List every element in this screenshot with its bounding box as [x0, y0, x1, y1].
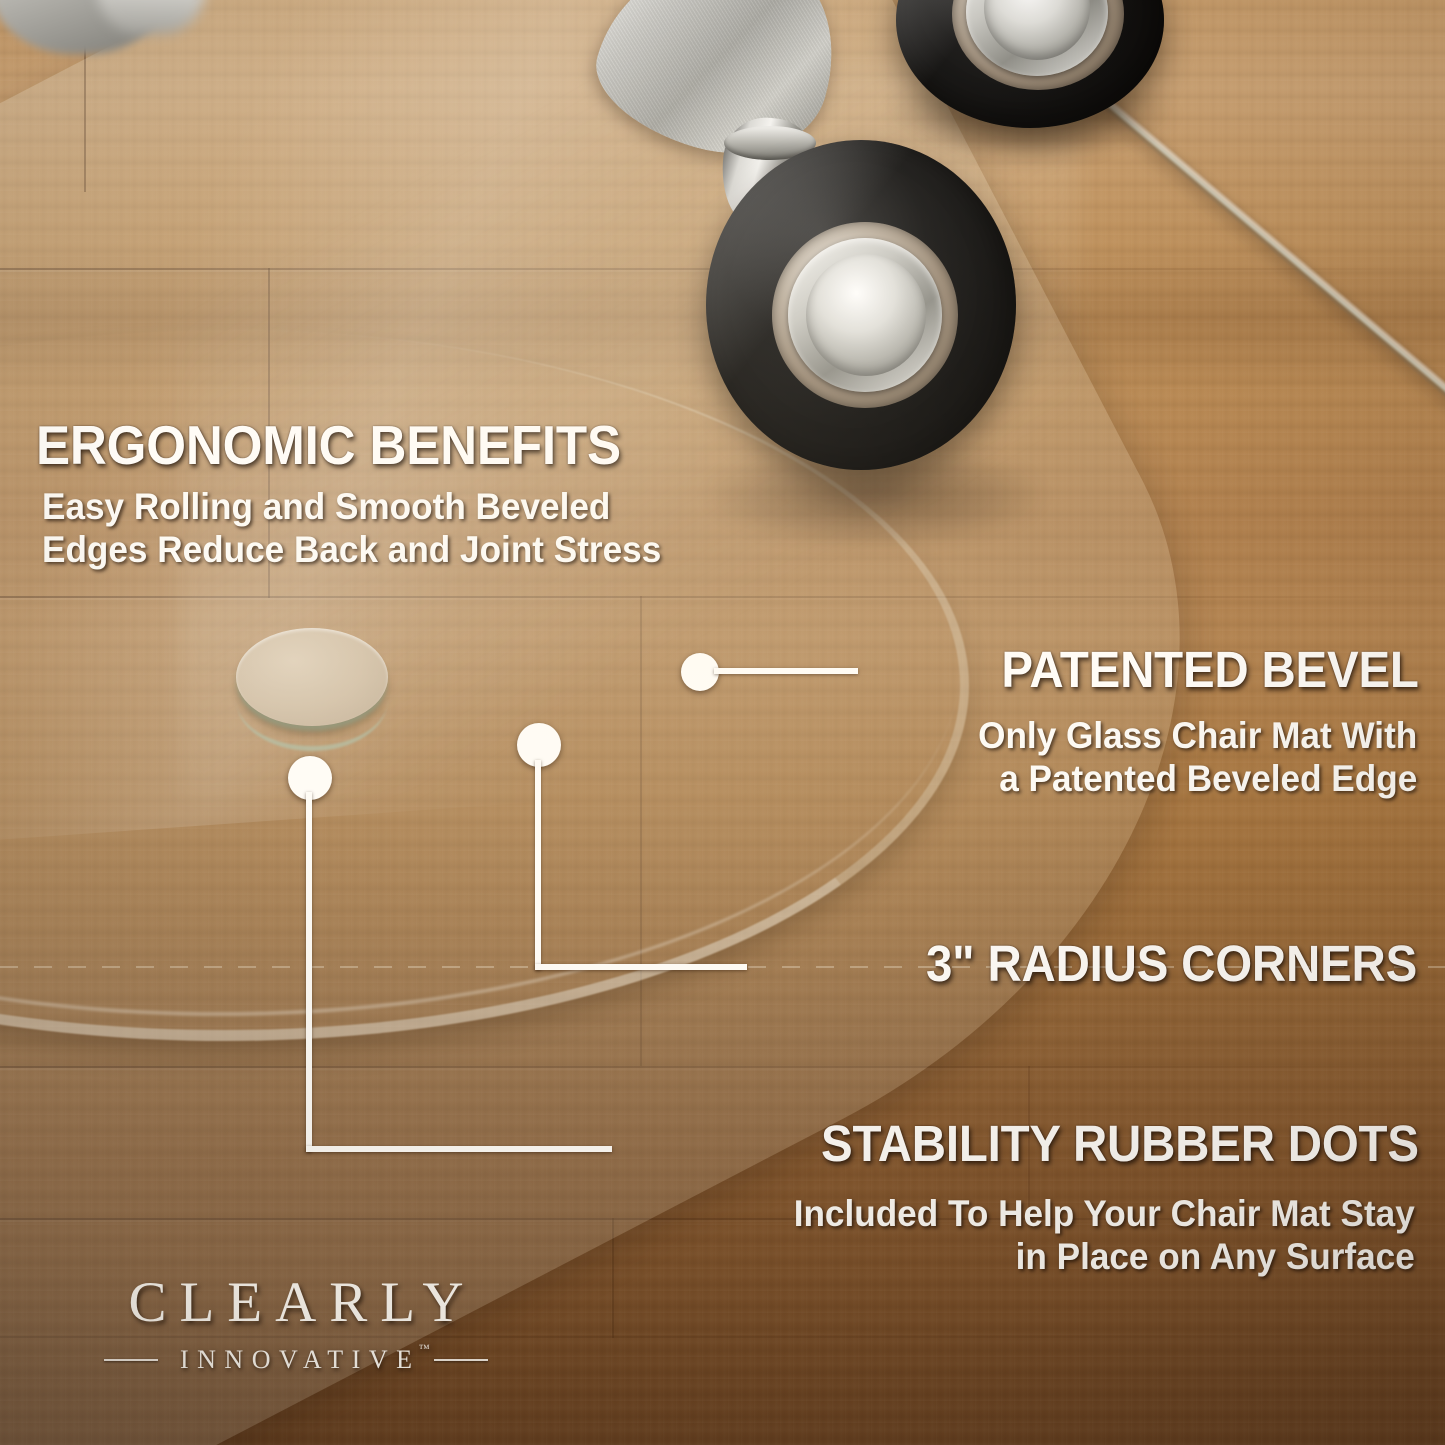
scene-vignette	[0, 0, 1445, 1445]
product-infographic: ERGONOMIC BENEFITS Easy Rolling and Smoo…	[0, 0, 1445, 1445]
